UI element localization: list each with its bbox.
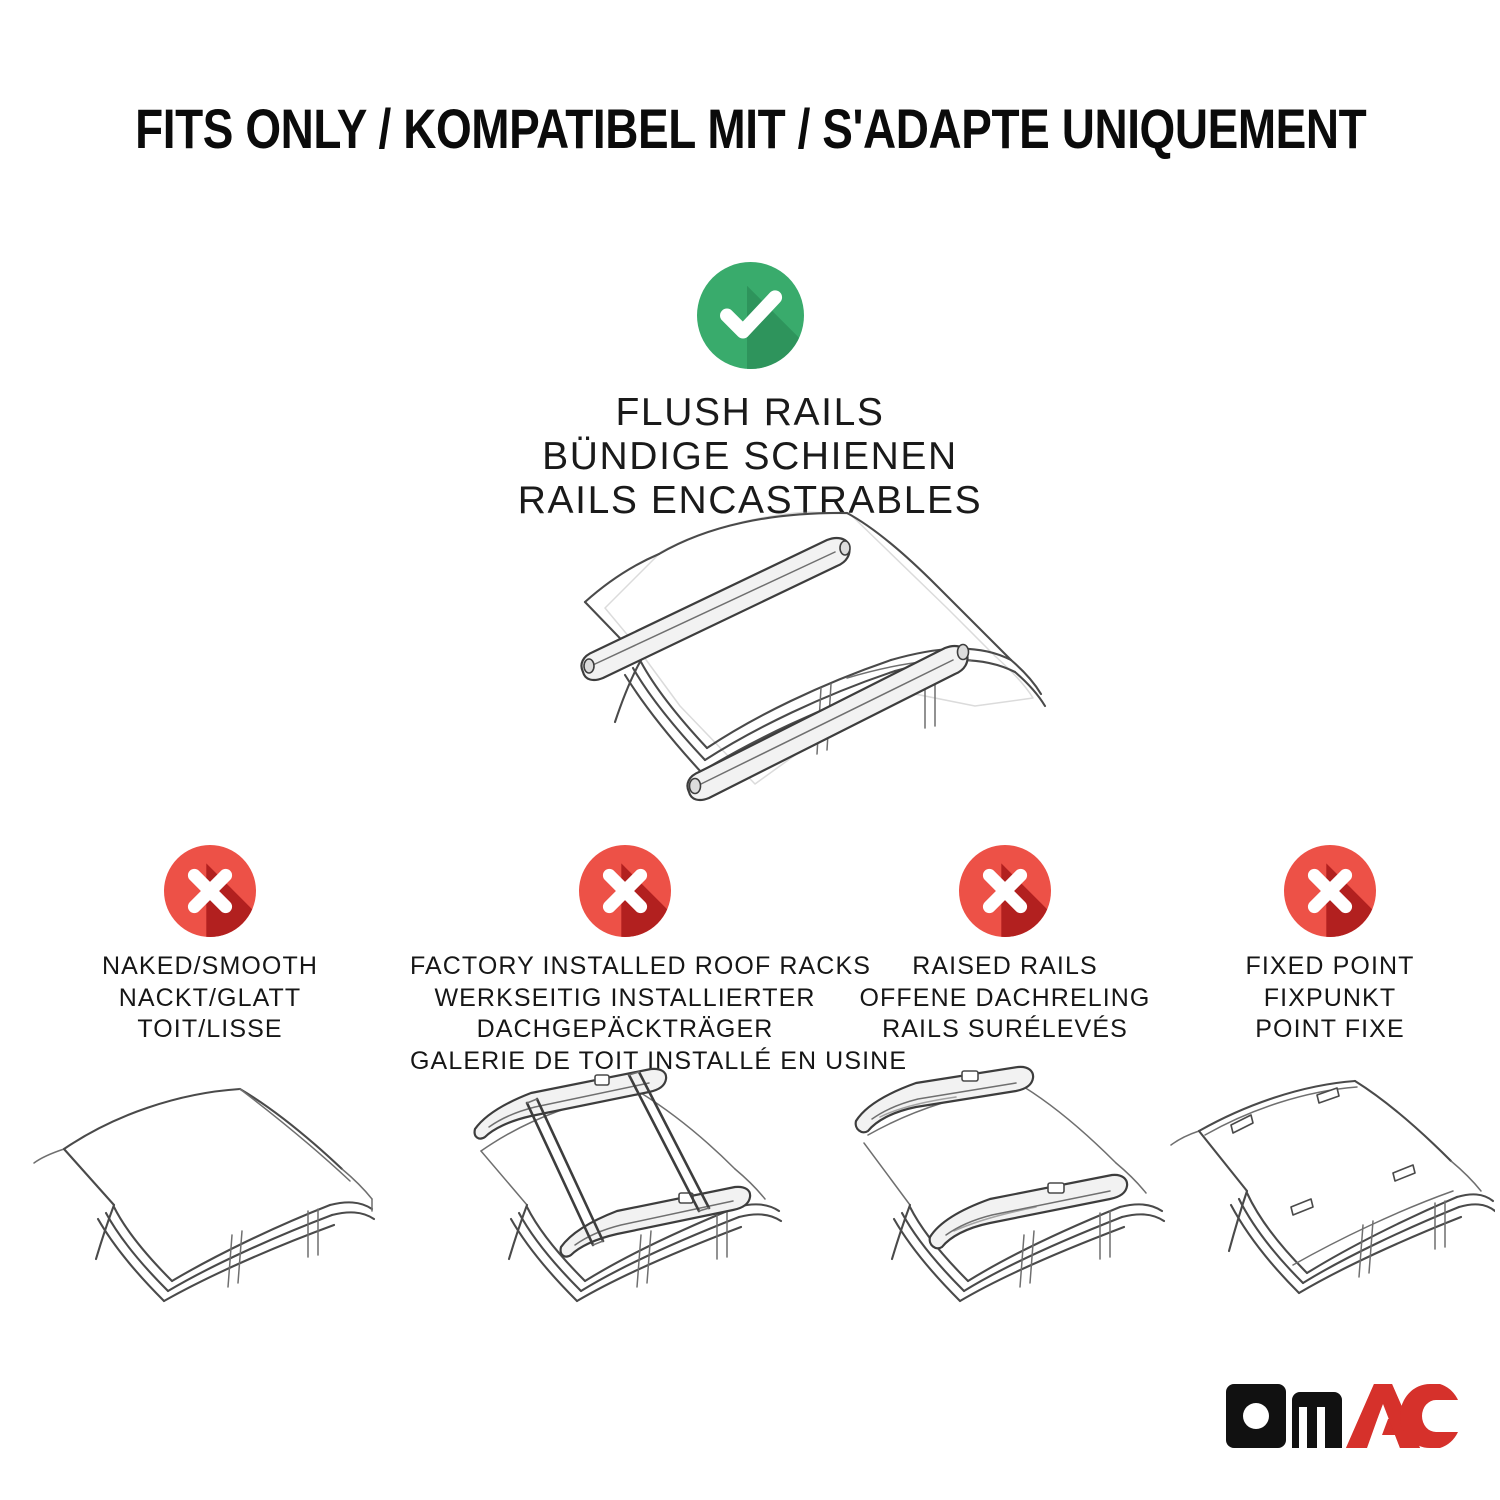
logo-letter-c (1400, 1384, 1458, 1448)
x-circle-icon (1284, 845, 1376, 937)
car-roof-fixed-point-drawing (1165, 1059, 1495, 1309)
car-roof-flush-rails-drawing (455, 492, 1065, 802)
option-label-fr: RAILS SURÉLEVÉS (835, 1014, 1175, 1046)
option-label-de: OFFENE DACHRELING (835, 983, 1175, 1015)
option-label-en: NAKED/SMOOTH (45, 951, 375, 983)
option-label-fr: POINT FIXE (1175, 1014, 1485, 1046)
omac-logo (1226, 1380, 1458, 1452)
option-labels: RAISED RAILS OFFENE DACHRELING RAILS SUR… (835, 951, 1175, 1046)
page-title: FITS ONLY / KOMPATIBEL MIT / S'ADAPTE UN… (135, 96, 1366, 161)
car-roof-factory-racks-drawing (435, 1059, 815, 1309)
x-circle-icon (579, 845, 671, 937)
car-roof-factory-racks-svg (435, 1059, 815, 1309)
option-label-de: FIXPUNKT (1175, 983, 1485, 1015)
option-naked-smooth: NAKED/SMOOTH NACKT/GLATT TOIT/LISSE (45, 845, 375, 1046)
option-label-de-2: DACHGEPÄCKTRÄGER (410, 1014, 840, 1046)
x-mark-glyph (164, 845, 256, 937)
incompatible-section: NAKED/SMOOTH NACKT/GLATT TOIT/LISSE (0, 845, 1500, 1315)
car-roof-naked-svg (30, 1059, 390, 1309)
logo-letter-o (1226, 1384, 1286, 1448)
x-circle-icon (164, 845, 256, 937)
x-circle-icon (959, 845, 1051, 937)
option-factory-roof-racks: FACTORY INSTALLED ROOF RACKS WERKSEITIG … (410, 845, 840, 1077)
x-mark-glyph (579, 845, 671, 937)
option-raised-rails: RAISED RAILS OFFENE DACHRELING RAILS SUR… (835, 845, 1175, 1046)
option-label-de: NACKT/GLATT (45, 983, 375, 1015)
car-roof-raised-rails-drawing (820, 1059, 1190, 1309)
x-mark-glyph (959, 845, 1051, 937)
option-fixed-point: FIXED POINT FIXPUNKT POINT FIXE (1175, 845, 1485, 1046)
option-label-fr: TOIT/LISSE (45, 1014, 375, 1046)
car-roof-flush-rails-svg (455, 492, 1065, 802)
check-mark-glyph (697, 262, 804, 369)
car-roof-raised-rails-svg (820, 1059, 1190, 1309)
option-labels: FIXED POINT FIXPUNKT POINT FIXE (1175, 951, 1485, 1046)
logo-letter-m (1292, 1392, 1342, 1448)
compatible-label-de: BÜNDIGE SCHIENEN (0, 435, 1500, 479)
header: FITS ONLY / KOMPATIBEL MIT / S'ADAPTE UN… (0, 96, 1500, 161)
check-circle-icon (697, 262, 804, 369)
omac-logo-svg (1226, 1380, 1458, 1452)
option-label-en: FACTORY INSTALLED ROOF RACKS (410, 951, 840, 983)
compatible-label-en: FLUSH RAILS (0, 391, 1500, 435)
option-label-en: FIXED POINT (1175, 951, 1485, 983)
option-labels: NAKED/SMOOTH NACKT/GLATT TOIT/LISSE (45, 951, 375, 1046)
x-mark-glyph (1284, 845, 1376, 937)
car-roof-fixed-point-svg (1165, 1059, 1495, 1309)
compatible-section: FLUSH RAILS BÜNDIGE SCHIENEN RAILS ENCAS… (0, 262, 1500, 523)
option-label-de-1: WERKSEITIG INSTALLIERTER (410, 983, 840, 1015)
car-roof-naked-drawing (30, 1059, 390, 1309)
option-label-en: RAISED RAILS (835, 951, 1175, 983)
